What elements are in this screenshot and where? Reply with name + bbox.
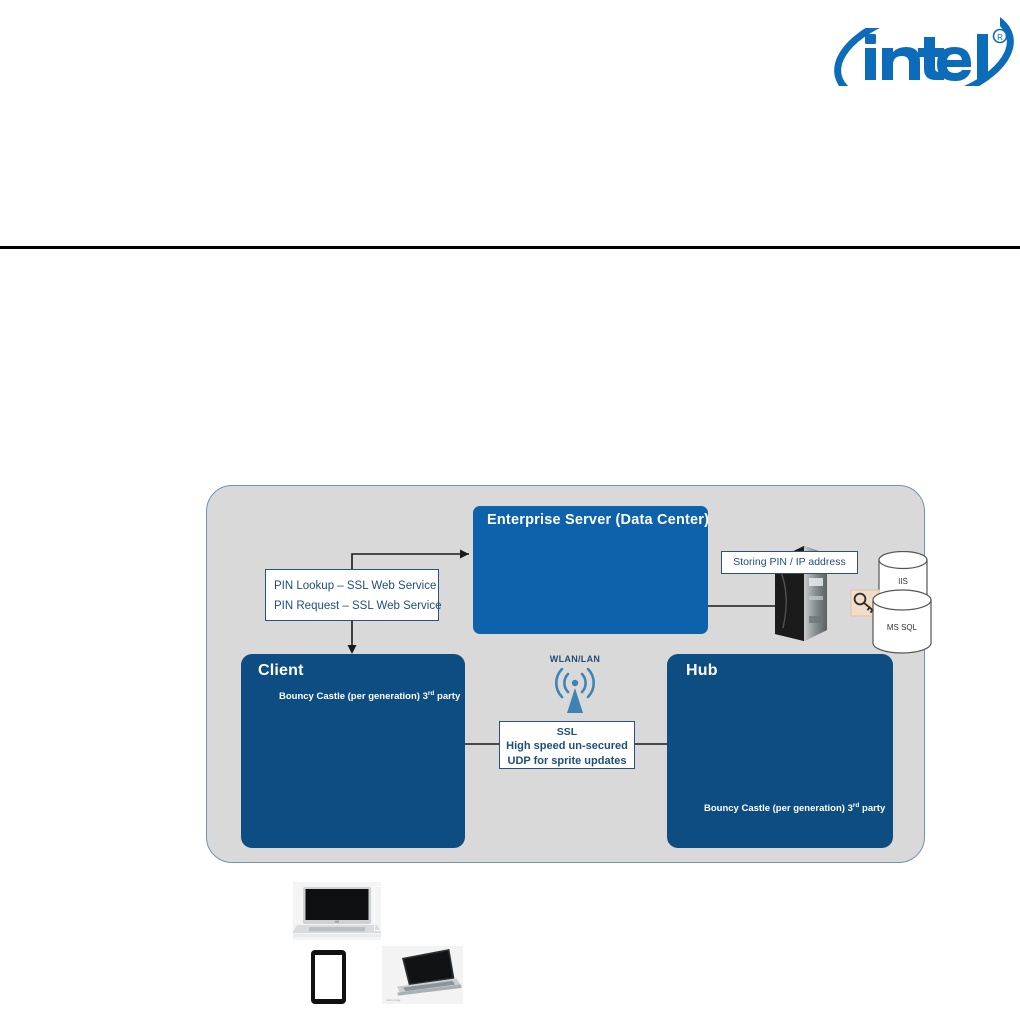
mssql-database-icon: MS SQL	[871, 589, 933, 654]
architecture-diagram: Enterprise Server (Data Center)	[206, 485, 925, 863]
document-page: R Enterprise Server (Data Center)	[0, 0, 1020, 867]
client-title: Client	[258, 662, 304, 680]
ssl-title: SSL	[500, 725, 634, 739]
ssl-line-2: High speed un-secured	[500, 739, 634, 754]
tablet-screen	[315, 955, 342, 999]
client-sw-item-0: - DLL Plugin Interface	[382, 904, 480, 918]
pin-callout: PIN Lookup – SSL Web Service PIN Request…	[265, 569, 439, 621]
client-bouncy-note-text: Bouncy Castle (per generation) 3	[279, 691, 428, 702]
svg-text:R: R	[997, 33, 1003, 42]
enterprise-server-panel: Enterprise Server (Data Center)	[473, 506, 708, 634]
enterprise-server-title: Enterprise Server (Data Center)	[487, 512, 709, 528]
hub-panel: Hub Hub SW - DLL Plugin Interface - Plat…	[667, 654, 893, 848]
client-notebook-photo: Laptop image	[382, 946, 463, 1004]
client-laptop-photo	[293, 882, 381, 940]
client-bouncy-castle-note: Bouncy Castle (per generation) 3rd party	[279, 690, 460, 702]
client-sw-heading: Client SW	[382, 891, 480, 904]
hub-bouncy-castle-note: Bouncy Castle (per generation) 3rd party	[704, 802, 885, 814]
hub-bouncy-note-text: Bouncy Castle (per generation) 3	[704, 803, 853, 814]
iis-database-label: IIS	[877, 577, 929, 586]
wlan-lan-label: WLAN/LAN	[540, 654, 610, 664]
hub-bouncy-note-tail: party	[859, 803, 885, 814]
client-bouncy-note-tail: party	[434, 691, 460, 702]
svg-text:Laptop image: Laptop image	[386, 999, 401, 1002]
wifi-antenna-icon	[547, 668, 603, 716]
mssql-database-label: MS SQL	[871, 623, 933, 632]
header-divider	[0, 246, 1020, 249]
client-panel: Client Bouncy Castle (per generation) 3r…	[241, 654, 465, 848]
storing-pin-callout: Storing PIN / IP address	[721, 551, 858, 574]
intel-logo: R	[832, 6, 1016, 106]
hub-title: Hub	[686, 662, 718, 680]
client-sw-item-1: - Platform Check	[382, 918, 480, 932]
pin-request-text: PIN Request – SSL Web Service	[274, 596, 438, 616]
ssl-line-3: UDP for sprite updates	[500, 754, 634, 769]
client-tablet-photo	[311, 950, 346, 1004]
ssl-callout: SSL High speed un-secured UDP for sprite…	[499, 721, 635, 769]
client-sw-box: Client SW - DLL Plugin Interface - Platf…	[374, 886, 487, 931]
pin-lookup-text: PIN Lookup – SSL Web Service	[274, 576, 438, 596]
